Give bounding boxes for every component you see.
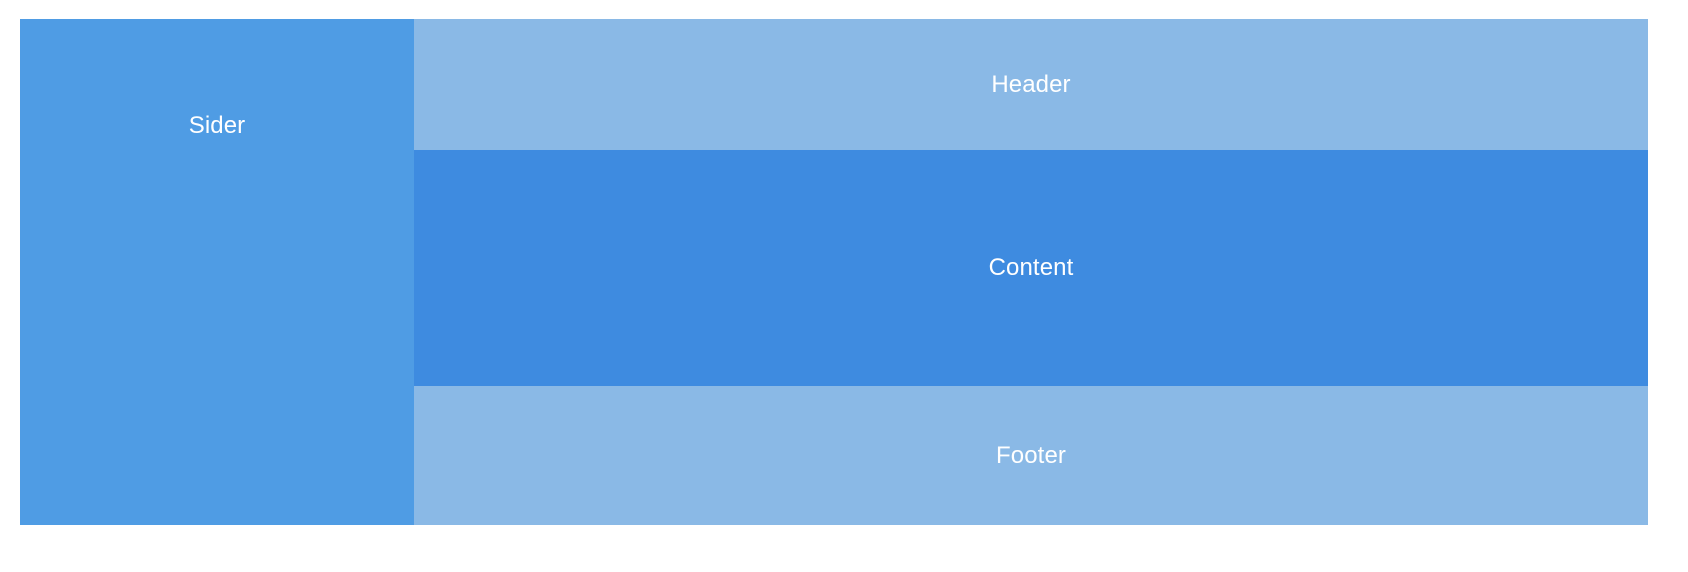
sider-label: Sider xyxy=(189,114,246,138)
layout-content[interactable]: Content xyxy=(414,150,1648,386)
header-label: Header xyxy=(991,73,1070,97)
layout-footer[interactable]: Footer xyxy=(414,386,1648,525)
layout-sider[interactable]: Sider xyxy=(20,19,414,525)
content-label: Content xyxy=(989,256,1074,280)
app-canvas: Sider Header Content Footer xyxy=(0,0,1688,572)
layout-header[interactable]: Header xyxy=(414,19,1648,150)
layout-root: Sider Header Content Footer xyxy=(20,19,1648,525)
footer-label: Footer xyxy=(996,444,1066,468)
layout-inner-column: Header Content Footer xyxy=(414,19,1648,525)
